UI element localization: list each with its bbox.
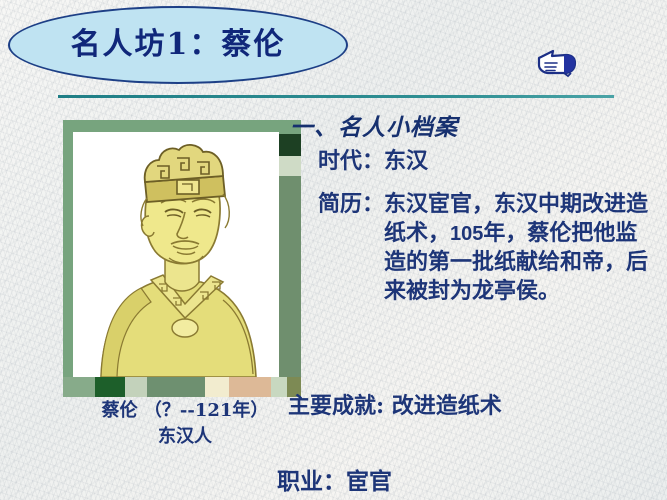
slide-canvas: 名人坊1：蔡伦	[0, 0, 667, 500]
section-heading: 一、名人小档案	[290, 108, 667, 142]
page-title: 名人坊1：蔡伦	[71, 30, 286, 60]
title-ellipse: 名人坊1：蔡伦	[8, 6, 348, 84]
bio-year: 105	[450, 223, 483, 245]
achievement-field: 主要成就: 改进造纸术	[288, 388, 502, 420]
bio-label: 简历：	[318, 190, 384, 306]
era-value: 东汉	[384, 148, 428, 174]
occupation-field: 职业：宦官	[277, 462, 392, 496]
frame-chip-bottom-6	[229, 377, 271, 397]
divider-rule	[58, 95, 614, 98]
era-label: 时代：	[318, 148, 384, 174]
frame-chip-bottom-3	[125, 377, 147, 397]
portrait-image	[73, 132, 279, 377]
frame-chip-bottom-5	[205, 377, 229, 397]
caption-line-1: 蔡伦 （？--121年）	[102, 400, 269, 421]
bio-field: 简历： 东汉宦官，东汉中期改进造纸术，105年，蔡伦把他监造的第一批纸献给和帝，…	[318, 190, 667, 306]
pointing-hand-icon	[533, 42, 581, 82]
frame-chip-bottom-1	[63, 377, 95, 397]
bio-line-6: 被封为龙亭侯。	[406, 278, 560, 304]
portrait-caption: 蔡伦 （？--121年） 东汉人	[70, 398, 300, 450]
frame-chip-bottom-4	[147, 377, 205, 397]
frame-chip-bottom-7	[271, 377, 287, 397]
caption-line-2: 东汉人	[70, 424, 300, 450]
frame-chip-bottom-2	[95, 377, 125, 397]
bio-line-3: 年，	[483, 220, 527, 246]
bio-line-1: 东汉宦官，东汉中期	[384, 191, 582, 217]
era-field: 时代：东汉	[318, 148, 667, 176]
bio-value: 东汉宦官，东汉中期改进造纸术，105年，蔡伦把他监造的第一批纸献给和帝，后来被封…	[384, 190, 652, 306]
portrait-frame	[63, 120, 301, 397]
content-column: 一、名人小档案 时代：东汉 简历： 东汉宦官，东汉中期改进造纸术，105年，蔡伦…	[284, 108, 667, 306]
